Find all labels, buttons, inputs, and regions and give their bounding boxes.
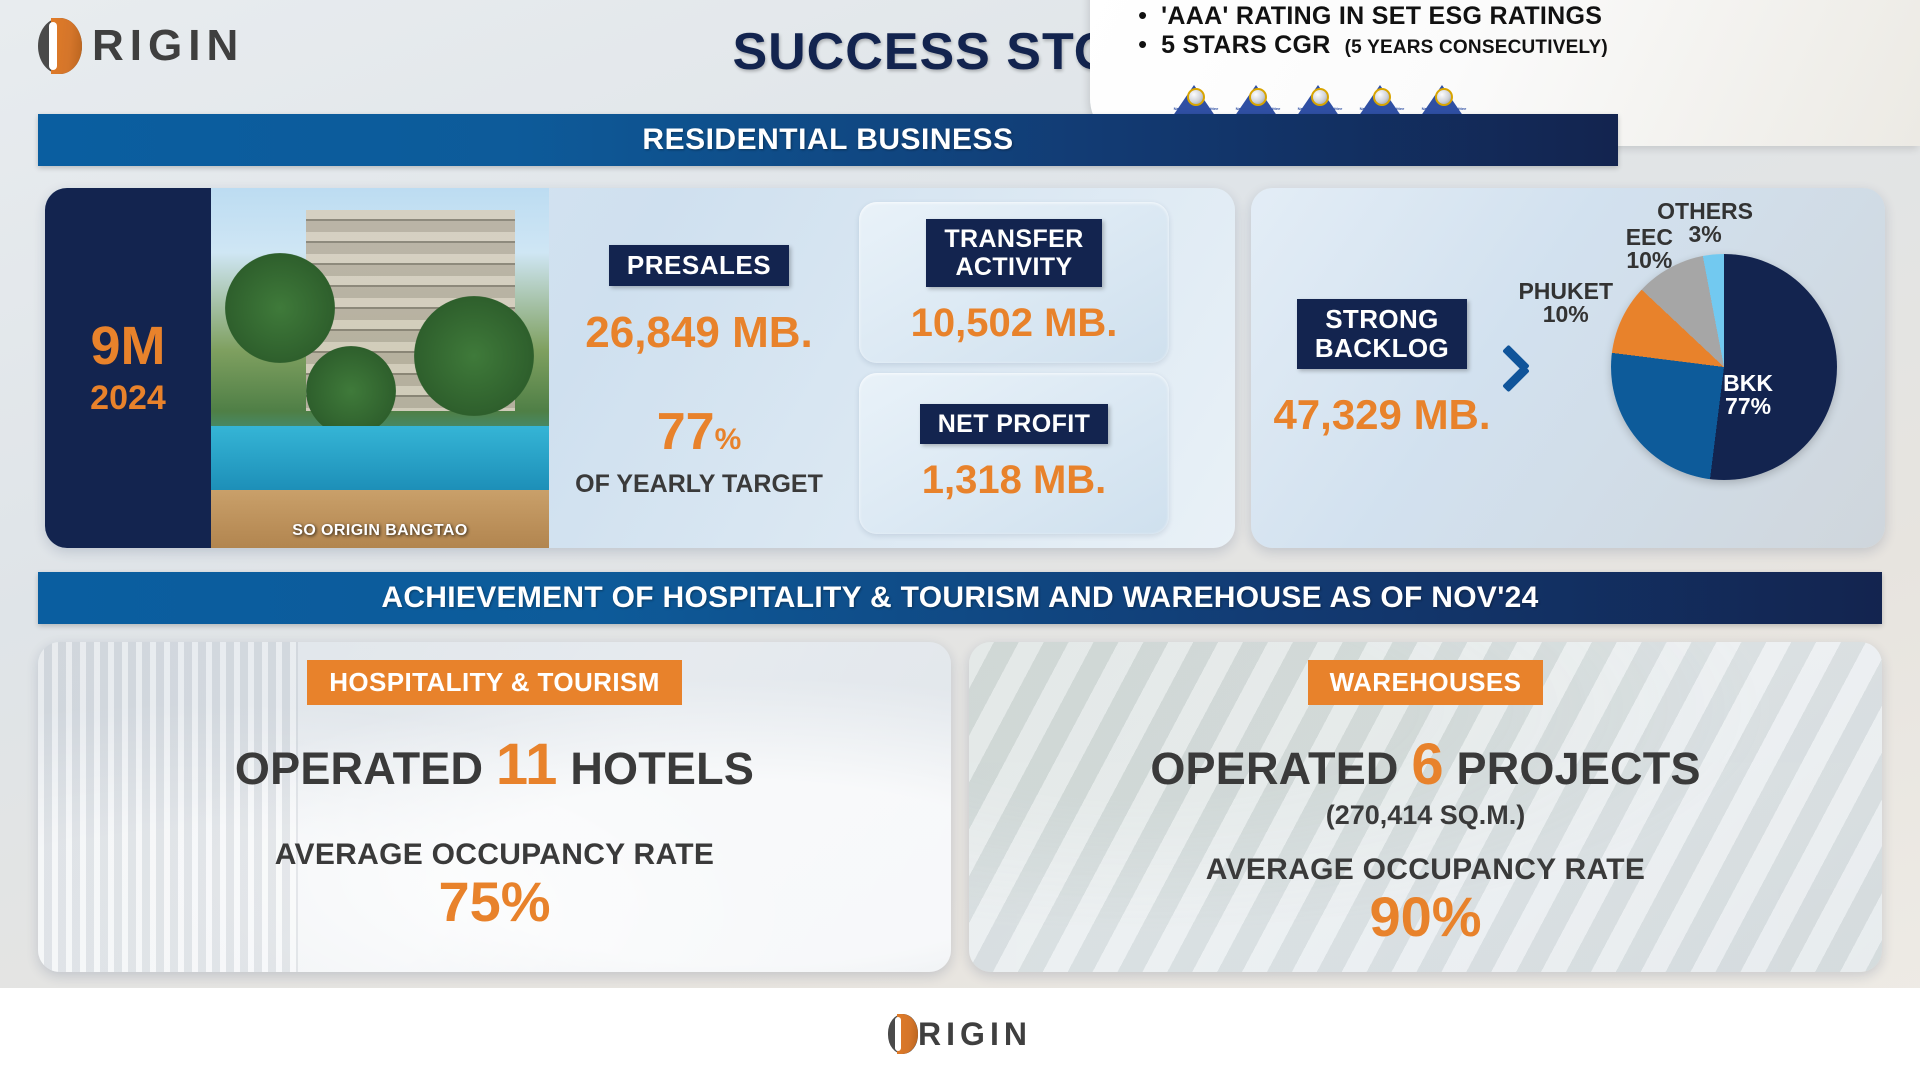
presales-label: PRESALES xyxy=(609,245,789,286)
warehouse-occupancy-label: AVERAGE OCCUPANCY RATE xyxy=(1206,853,1645,887)
cg-badge-row: National CG Committee National CG Commit… xyxy=(1168,68,1890,114)
pie-label-eec-name: EEC xyxy=(1626,226,1673,249)
warehouse-tag: WAREHOUSES xyxy=(1308,660,1544,705)
esg-rating-line: • 'AAA' RATING IN SET ESG RATINGS xyxy=(1138,2,1890,31)
transfer-activity-label: TRANSFER ACTIVITY xyxy=(926,219,1101,287)
chevron-right-icon xyxy=(1497,338,1531,398)
cg-badge-caption: National CG Committee xyxy=(1230,106,1286,111)
warehouse-project-count: 6 xyxy=(1411,732,1443,797)
warehouse-operated-pre: OPERATED xyxy=(1150,743,1398,794)
cg-badge-caption: National CG Committee xyxy=(1354,106,1410,111)
project-photo-caption: SO ORIGIN BANGTAO xyxy=(211,522,549,540)
header-area: RIGIN SUCCESS STORY • 'AAA' RATING IN SE… xyxy=(0,0,1920,100)
achievement-cards-row: HOSPITALITY & TOURISM OPERATED 11 HOTELS… xyxy=(38,642,1882,972)
cg-badge-caption: National CG Committee xyxy=(1168,106,1224,111)
bullet-icon: • xyxy=(1138,31,1147,57)
presales-block: PRESALES 26,849 MB. 77 % OF YEARLY TARGE… xyxy=(549,188,849,548)
pie-slices xyxy=(1611,254,1837,480)
hospitality-hotel-count: 11 xyxy=(496,732,558,797)
cg-badge-caption: National CG Committee xyxy=(1416,106,1472,111)
hospitality-occupancy-label: AVERAGE OCCUPANCY RATE xyxy=(275,838,714,872)
backlog-label-line1: STRONG xyxy=(1325,304,1439,334)
pie-label-eec: EEC 10% xyxy=(1626,226,1673,273)
esg-cgr-note: (5 YEARS CONSECUTIVELY) xyxy=(1345,37,1608,59)
pie-label-phuket-name: PHUKET xyxy=(1518,280,1613,303)
achievement-banner: ACHIEVEMENT OF HOSPITALITY & TOURISM AND… xyxy=(38,572,1882,624)
presales-target-caption: OF YEARLY TARGET xyxy=(575,470,823,499)
hospitality-operated-post: HOTELS xyxy=(570,743,754,794)
transfer-activity-block: TRANSFER ACTIVITY 10,502 MB. xyxy=(859,202,1169,363)
net-profit-label: NET PROFIT xyxy=(920,404,1109,444)
warehouse-area: (270,414 SQ.M.) xyxy=(1326,800,1526,831)
presales-card: 9M 2024 SO ORIGIN BANGTAO PRESALES 26,84… xyxy=(45,188,1235,548)
warehouse-card: WAREHOUSES OPERATED 6 PROJECTS (270,414 … xyxy=(969,642,1882,972)
cg-award-badge-icon: National CG Committee xyxy=(1354,68,1410,114)
pie-label-bkk: BKK 77% xyxy=(1723,372,1773,419)
presales-value: 26,849 MB. xyxy=(585,308,812,358)
period-block: 9M 2024 xyxy=(45,188,211,548)
transfer-netprofit-panel: TRANSFER ACTIVITY 10,502 MB. NET PROFIT … xyxy=(859,202,1169,534)
cg-award-badge-icon: National CG Committee xyxy=(1416,68,1472,114)
footer: RIGIN xyxy=(0,988,1920,1080)
warehouse-operated-post: PROJECTS xyxy=(1457,743,1701,794)
esg-cgr-text: 5 STARS CGR xyxy=(1161,31,1331,60)
esg-rating-text: 'AAA' RATING IN SET ESG RATINGS xyxy=(1161,2,1602,31)
period-year: 2024 xyxy=(90,379,166,418)
cg-award-badge-icon: National CG Committee xyxy=(1230,68,1286,114)
transfer-activity-label-line2: ACTIVITY xyxy=(955,253,1072,281)
presales-target-pct: 77 % xyxy=(657,402,742,462)
backlog-label-line2: BACKLOG xyxy=(1315,333,1449,363)
backlog-label: STRONG BACKLOG xyxy=(1297,299,1467,369)
warehouse-operated-line: OPERATED 6 PROJECTS xyxy=(1150,731,1700,798)
backlog-pie-chart: OTHERS 3% EEC 10% PHUKET 10% BKK 77% xyxy=(1537,188,1885,548)
bullet-icon: • xyxy=(1138,2,1147,28)
cg-award-badge-icon: National CG Committee xyxy=(1168,68,1224,114)
pie-label-phuket: PHUKET 10% xyxy=(1518,280,1613,327)
hospitality-operated-pre: OPERATED xyxy=(235,743,483,794)
footer-logo-text: RIGIN xyxy=(918,1016,1032,1053)
pie-label-eec-value: 10% xyxy=(1626,249,1673,272)
pie-label-others-name: OTHERS xyxy=(1657,200,1753,223)
cg-badge-caption: National CG Committee xyxy=(1292,106,1348,111)
hospitality-operated-line: OPERATED 11 HOTELS xyxy=(235,731,754,798)
presales-pct-number: 77 xyxy=(657,402,715,462)
pie-label-bkk-name: BKK xyxy=(1723,372,1773,395)
hospitality-occupancy-value: 75% xyxy=(438,874,550,930)
hospitality-card: HOSPITALITY & TOURISM OPERATED 11 HOTELS… xyxy=(38,642,951,972)
esg-cgr-line: • 5 STARS CGR (5 YEARS CONSECUTIVELY) xyxy=(1138,31,1890,60)
hospitality-tag: HOSPITALITY & TOURISM xyxy=(307,660,682,705)
cg-award-badge-icon: National CG Committee xyxy=(1292,68,1348,114)
backlog-block: STRONG BACKLOG 47,329 MB. xyxy=(1251,299,1491,437)
net-profit-value: 1,318 MB. xyxy=(922,458,1107,503)
percent-sign-icon: % xyxy=(715,423,742,457)
origin-logo-mark-icon xyxy=(888,1014,918,1054)
transfer-activity-label-line1: TRANSFER xyxy=(944,225,1083,253)
backlog-value: 47,329 MB. xyxy=(1273,393,1490,437)
transfer-activity-value: 10,502 MB. xyxy=(911,301,1118,346)
net-profit-block: NET PROFIT 1,318 MB. xyxy=(859,373,1169,534)
pie-label-bkk-value: 77% xyxy=(1723,395,1773,418)
residential-business-banner: RESIDENTIAL BUSINESS xyxy=(38,114,1618,166)
pie-label-phuket-value: 10% xyxy=(1518,303,1613,326)
warehouse-occupancy-value: 90% xyxy=(1369,889,1481,945)
project-photo: SO ORIGIN BANGTAO xyxy=(211,188,549,548)
backlog-card: STRONG BACKLOG 47,329 MB. OTHERS 3% EEC … xyxy=(1251,188,1885,548)
period-value: 9M xyxy=(90,319,165,373)
residential-metrics-row: 9M 2024 SO ORIGIN BANGTAO PRESALES 26,84… xyxy=(45,188,1885,548)
